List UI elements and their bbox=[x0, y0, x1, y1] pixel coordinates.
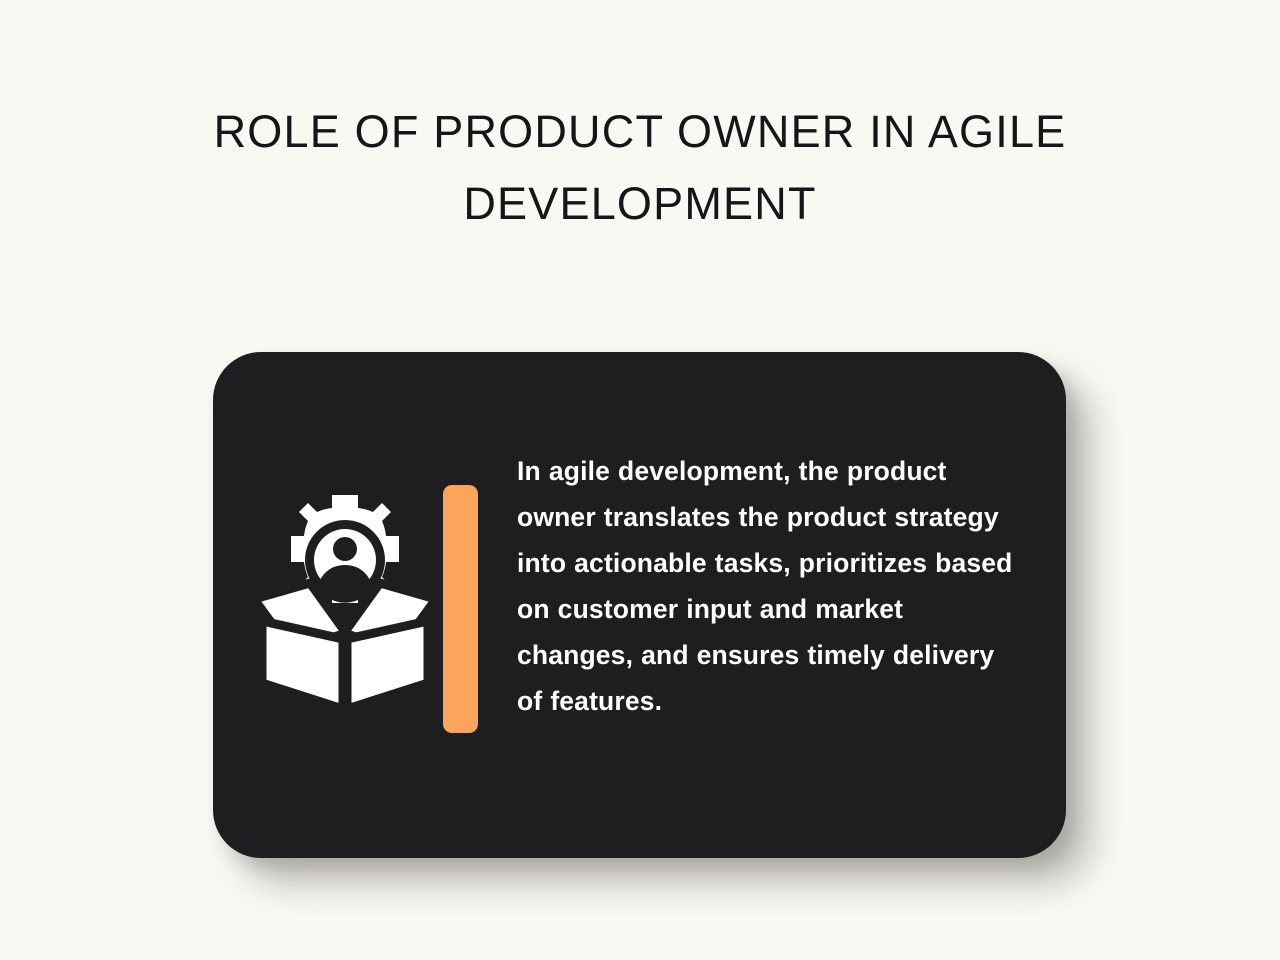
card-body-text: In agile development, the product owner … bbox=[517, 448, 1017, 724]
slide-canvas: ROLE OF PRODUCT OWNER IN AGILE DEVELOPME… bbox=[0, 0, 1280, 960]
gear-person-in-box-icon bbox=[245, 483, 445, 715]
title-block: ROLE OF PRODUCT OWNER IN AGILE DEVELOPME… bbox=[140, 96, 1140, 240]
page-title: ROLE OF PRODUCT OWNER IN AGILE DEVELOPME… bbox=[140, 96, 1140, 240]
info-card: In agile development, the product owner … bbox=[213, 352, 1066, 858]
orange-accent-bar bbox=[443, 485, 478, 733]
